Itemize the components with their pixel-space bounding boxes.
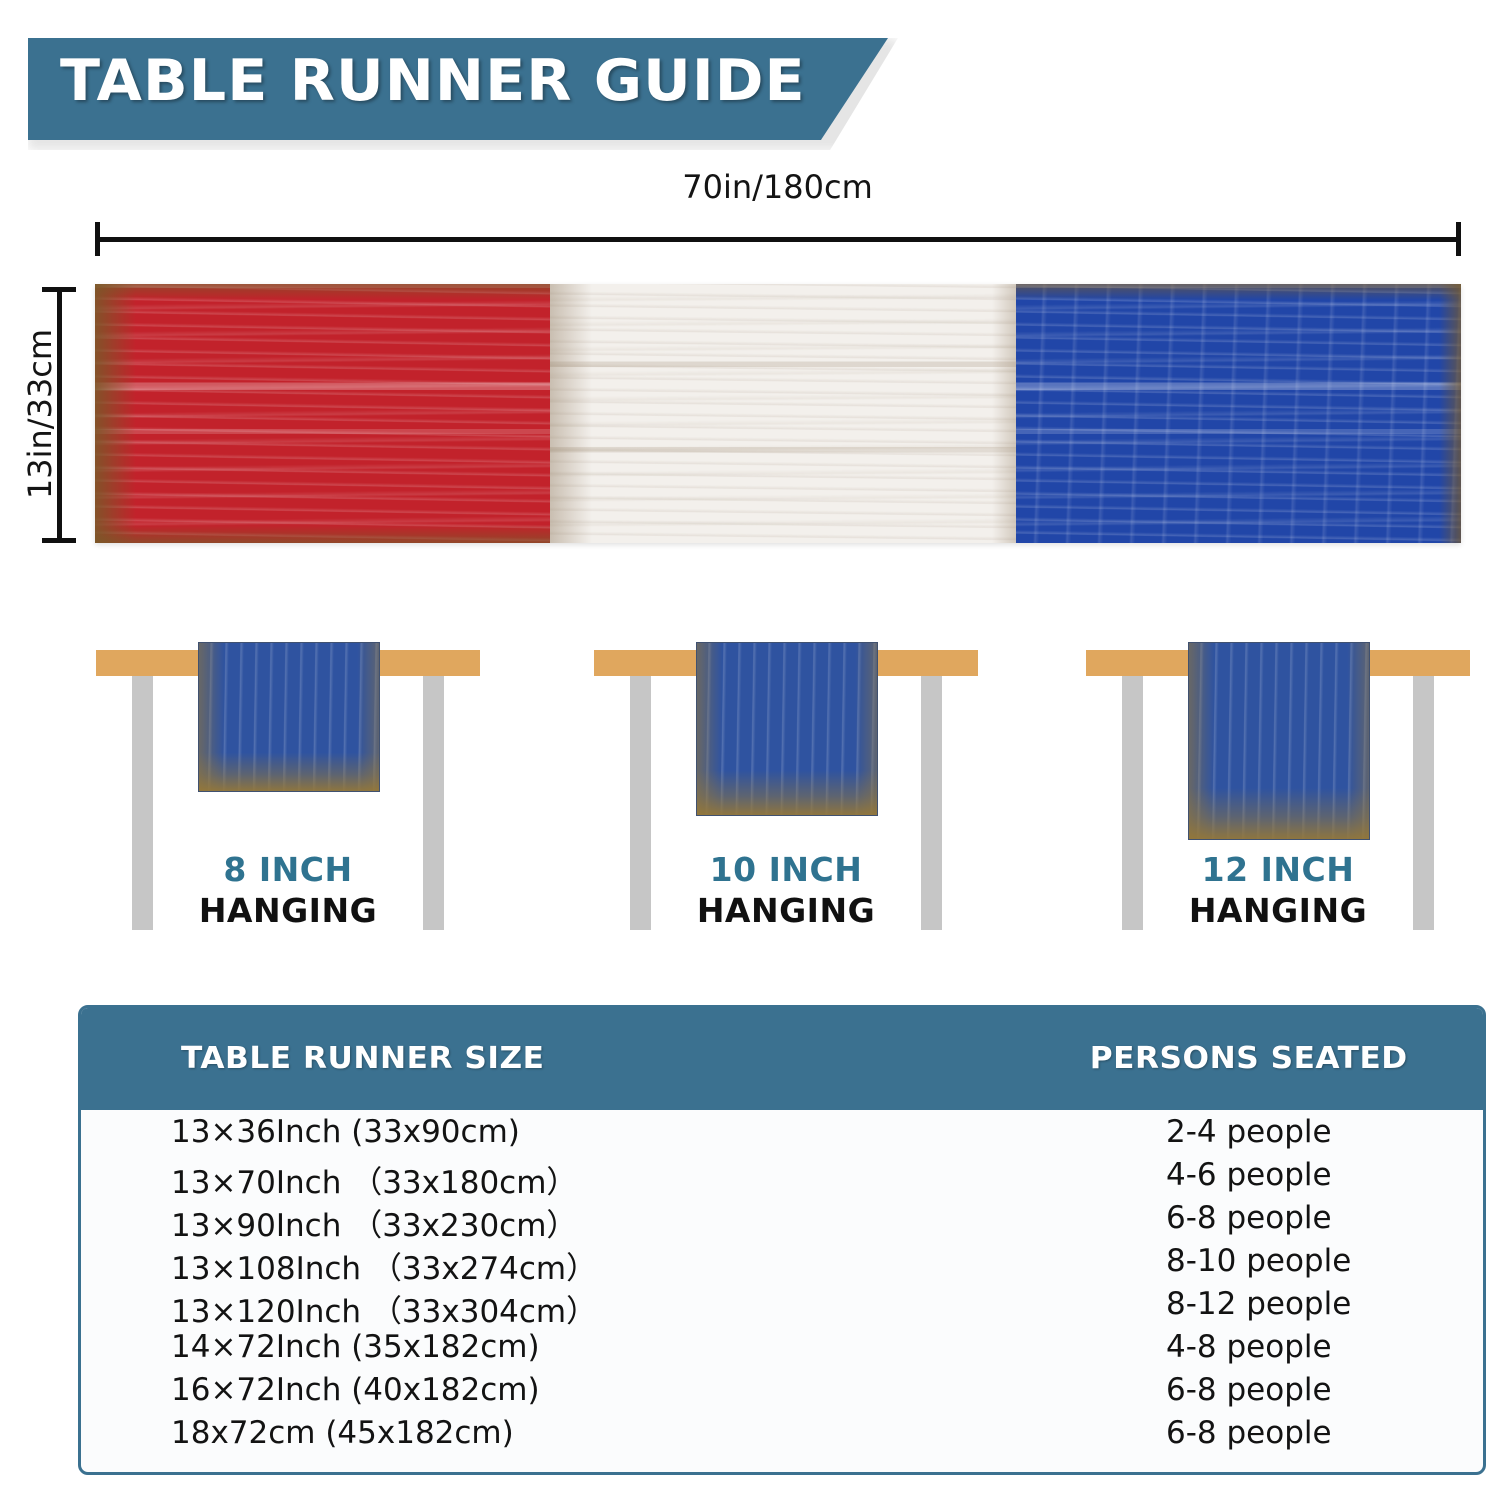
- cell-size: 13×70Inch （33x180cm）: [171, 1157, 577, 1202]
- cell-persons: 4-6 people: [1166, 1157, 1332, 1193]
- hanging-word-label: HANGING: [1078, 891, 1478, 930]
- red-left-edge-wear: [95, 284, 136, 543]
- table-row: 13×90Inch （33x230cm） 6-8 people: [81, 1200, 1483, 1243]
- cell-persons: 6-8 people: [1166, 1415, 1332, 1451]
- hanging-inch-label: 10 INCH: [586, 850, 986, 889]
- hanging-word-label: HANGING: [586, 891, 986, 930]
- hanging-inch-label: 12 INCH: [1078, 850, 1478, 889]
- red-bottom-edge-wear: [95, 525, 550, 543]
- page-title: TABLE RUNNER GUIDE: [60, 48, 806, 114]
- blue-top-edge-wear: [1016, 284, 1461, 300]
- size-table-body: 13×36Inch (33x90cm) 2-4 people 13×70Inch…: [81, 1114, 1483, 1458]
- cloth-wear-texture: [1189, 643, 1369, 839]
- cell-persons: 4-8 people: [1166, 1329, 1332, 1365]
- runner-white-band: [550, 284, 1016, 543]
- cell-size: 13×120Inch （33x304cm）: [171, 1286, 597, 1331]
- table-row: 14×72Inch (35x182cm) 4-8 people: [81, 1329, 1483, 1372]
- cell-persons: 6-8 people: [1166, 1372, 1332, 1408]
- hanging-label-12inch: 12 INCH HANGING: [1078, 850, 1478, 930]
- hanging-inch-label: 8 INCH: [88, 850, 488, 889]
- table-row: 13×120Inch （33x304cm） 8-12 people: [81, 1286, 1483, 1329]
- blue-streak-texture: [1016, 284, 1461, 543]
- hanging-illustration-8inch: 8 INCH HANGING: [88, 620, 488, 950]
- size-table-panel: TABLE RUNNER SIZE PERSONS SEATED 13×36In…: [78, 1005, 1486, 1475]
- column-header-persons: PERSONS SEATED: [1090, 1041, 1408, 1076]
- cell-persons: 8-12 people: [1166, 1286, 1351, 1322]
- white-right-edge-wear: [992, 284, 1015, 543]
- width-bracket-bar: [95, 237, 1461, 242]
- blue-right-edge-wear: [1439, 284, 1461, 543]
- table-row: 16×72Inch (40x182cm) 6-8 people: [81, 1372, 1483, 1415]
- table-runner-image: [95, 284, 1461, 543]
- width-dimension-label: 70in/180cm: [95, 168, 1460, 206]
- white-streak-texture: [550, 284, 1016, 543]
- height-dimension-label: 13in/33cm: [21, 264, 59, 564]
- width-dimension-bracket: [95, 222, 1461, 256]
- cell-size: 13×90Inch （33x230cm）: [171, 1200, 577, 1245]
- hanging-runner-cloth: [198, 642, 380, 792]
- cell-size: 13×36Inch (33x90cm): [171, 1114, 520, 1150]
- red-streak-texture: [95, 284, 550, 543]
- size-table-header: TABLE RUNNER SIZE PERSONS SEATED: [81, 1008, 1483, 1110]
- cell-size: 13×108Inch （33x274cm）: [171, 1243, 597, 1288]
- red-top-edge-wear: [95, 284, 550, 300]
- hanging-runner-cloth: [1188, 642, 1370, 840]
- cell-persons: 2-4 people: [1166, 1114, 1332, 1150]
- cloth-wear-texture: [199, 643, 379, 791]
- table-row: 13×36Inch (33x90cm) 2-4 people: [81, 1114, 1483, 1157]
- width-bracket-right-cap: [1456, 222, 1461, 256]
- hanging-label-10inch: 10 INCH HANGING: [586, 850, 986, 930]
- cell-persons: 6-8 people: [1166, 1200, 1332, 1236]
- white-left-edge-wear: [550, 284, 592, 543]
- cell-size: 16×72Inch (40x182cm): [171, 1372, 540, 1408]
- hanging-word-label: HANGING: [88, 891, 488, 930]
- table-row: 18x72cm (45x182cm) 6-8 people: [81, 1415, 1483, 1458]
- cell-persons: 8-10 people: [1166, 1243, 1351, 1279]
- cloth-wear-texture: [697, 643, 877, 815]
- column-header-size: TABLE RUNNER SIZE: [181, 1041, 544, 1076]
- hanging-runner-cloth: [696, 642, 878, 816]
- cell-size: 14×72Inch (35x182cm): [171, 1329, 540, 1365]
- table-row: 13×70Inch （33x180cm） 4-6 people: [81, 1157, 1483, 1200]
- hanging-illustration-12inch: 12 INCH HANGING: [1078, 620, 1478, 950]
- runner-red-band: [95, 284, 550, 543]
- table-row: 13×108Inch （33x274cm） 8-10 people: [81, 1243, 1483, 1286]
- hanging-label-8inch: 8 INCH HANGING: [88, 850, 488, 930]
- hanging-illustration-10inch: 10 INCH HANGING: [586, 620, 986, 950]
- cell-size: 18x72cm (45x182cm): [171, 1415, 514, 1451]
- runner-blue-band: [1016, 284, 1461, 543]
